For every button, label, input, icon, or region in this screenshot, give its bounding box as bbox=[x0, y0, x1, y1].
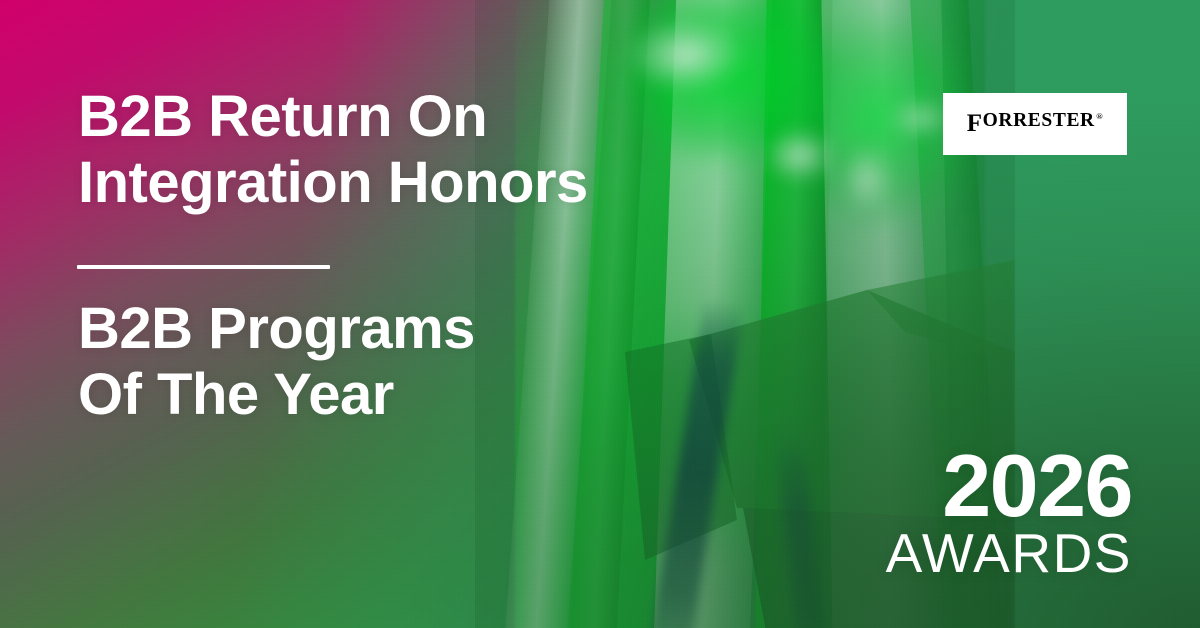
title-divider bbox=[77, 265, 330, 269]
page-subtitle: B2B Programs Of The Year bbox=[78, 296, 475, 427]
awards-label: AWARDS bbox=[818, 526, 1132, 581]
registered-trademark-icon: ® bbox=[1096, 112, 1103, 121]
forrester-logo: F ORRESTER ® bbox=[943, 93, 1127, 155]
forrester-rest: ORRESTER bbox=[983, 111, 1095, 131]
awards-banner: B2B Return On Integration Honors B2B Pro… bbox=[0, 0, 1200, 628]
awards-year: 2026 bbox=[818, 448, 1132, 524]
page-title: B2B Return On Integration Honors bbox=[78, 84, 588, 215]
awards-lockup: 2026 AWARDS bbox=[818, 448, 1132, 581]
forrester-initial: F bbox=[967, 111, 983, 136]
forrester-wordmark: F ORRESTER ® bbox=[967, 111, 1103, 136]
banner-content: B2B Return On Integration Honors B2B Pro… bbox=[0, 0, 1200, 628]
